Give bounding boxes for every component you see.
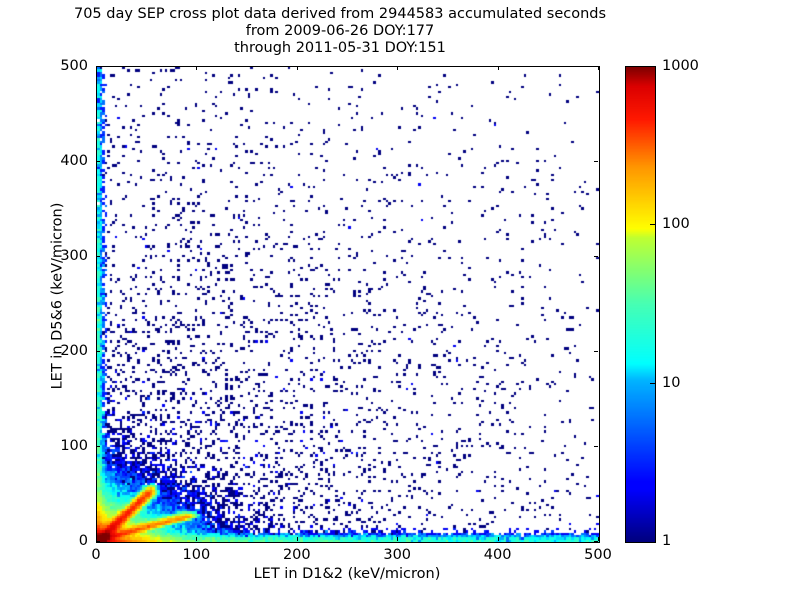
- y-axis-tick: [96, 541, 100, 542]
- x-axis-tick: [297, 537, 298, 541]
- colorbar-tick: [650, 383, 655, 384]
- figure-canvas: 705 day SEP cross plot data derived from…: [0, 0, 800, 600]
- x-axis-tick: [598, 537, 599, 541]
- y-axis-tick-right: [594, 446, 598, 447]
- y-axis-tick: [96, 256, 100, 257]
- x-axis-label: LET in D1&2 (keV/micron): [96, 566, 598, 582]
- y-axis-tick: [96, 351, 100, 352]
- y-axis-tick-right: [594, 66, 598, 67]
- plot-area: [96, 66, 600, 543]
- x-axis-tick-label: 100: [183, 547, 211, 563]
- colorbar: [625, 66, 656, 543]
- y-axis-tick: [96, 161, 100, 162]
- colorbar-tick-label: 100: [662, 216, 690, 232]
- y-axis-tick: [96, 446, 100, 447]
- chart-title-line-2: from 2009-06-26 DOY:177: [0, 23, 680, 40]
- y-axis-tick: [96, 66, 100, 67]
- colorbar-tick-label: 1: [662, 533, 671, 549]
- y-axis-label: LET in D5&6 (keV/micron): [50, 59, 66, 534]
- x-axis-tick-label: 500: [584, 547, 612, 563]
- x-axis-tick: [196, 537, 197, 541]
- colorbar-gradient: [626, 67, 655, 542]
- y-axis-tick-right: [594, 256, 598, 257]
- x-axis-tick: [498, 537, 499, 541]
- chart-title-line-1: 705 day SEP cross plot data derived from…: [0, 6, 680, 23]
- x-axis-tick-top: [598, 66, 599, 70]
- x-axis-tick-top: [196, 66, 197, 70]
- x-axis-tick-label: 0: [91, 547, 100, 563]
- x-axis-tick-label: 200: [283, 547, 311, 563]
- x-axis-tick-top: [297, 66, 298, 70]
- x-axis-tick-label: 400: [484, 547, 512, 563]
- y-axis-tick-label: 0: [38, 533, 88, 549]
- y-axis-tick-right: [594, 161, 598, 162]
- colorbar-tick-label: 10: [662, 375, 680, 391]
- density-scatter-canvas: [97, 67, 599, 542]
- x-axis-tick-top: [397, 66, 398, 70]
- y-axis-tick-right: [594, 541, 598, 542]
- colorbar-tick: [650, 224, 655, 225]
- chart-title-line-3: through 2011-05-31 DOY:151: [0, 40, 680, 57]
- y-axis-tick-right: [594, 351, 598, 352]
- x-axis-tick-label: 300: [383, 547, 411, 563]
- colorbar-tick-label: 1000: [662, 58, 699, 74]
- x-axis-tick: [397, 537, 398, 541]
- x-axis-tick-top: [498, 66, 499, 70]
- chart-title: 705 day SEP cross plot data derived from…: [0, 6, 680, 57]
